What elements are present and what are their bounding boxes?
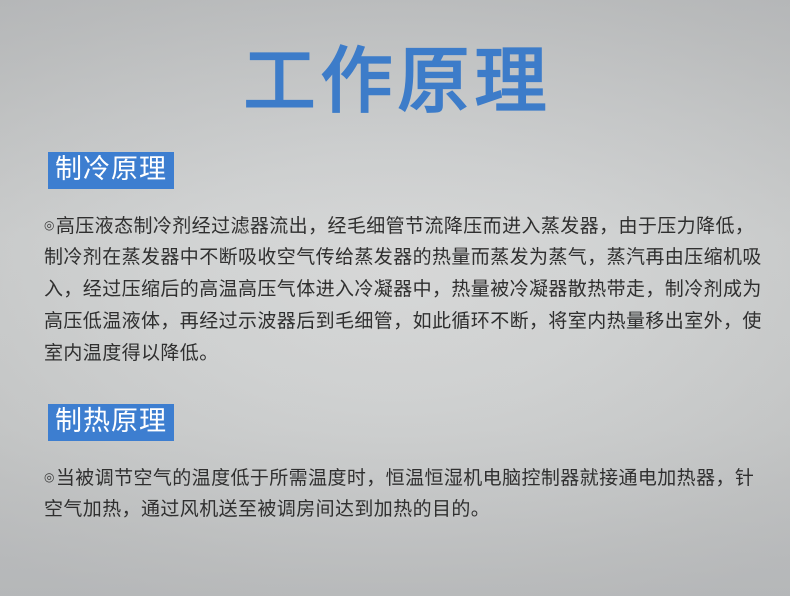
body-line-text: 高压液态制冷剂经过滤器流出，经毛细管节流降压而进入蒸发器，由于压力降低， [56,215,754,237]
page-background: 工作原理 制冷原理 ◎高压液态制冷剂经过滤器流出，经毛细管节流降压而进入蒸发器，… [0,0,790,596]
body-line: 入，经过压缩后的高温高压气体进入冷凝器中，热量被冷凝器散热带走，制冷剂成为 [44,273,760,305]
body-line-text: 当被调节空气的温度低于所需温度时，恒温恒湿机电脑控制器就接通电加热器，针 [56,467,754,489]
body-line: ◎高压液态制冷剂经过滤器流出，经毛细管节流降压而进入蒸发器，由于压力降低， [44,209,760,241]
section-cooling-body: ◎高压液态制冷剂经过滤器流出，经毛细管节流降压而进入蒸发器，由于压力降低， 制冷… [44,209,760,369]
bullet-icon: ◎ [44,470,56,484]
section-badge-heating: 制热原理 [48,404,174,441]
section-heating-header: 制热原理 [0,404,790,441]
section-badge-cooling: 制冷原理 [48,152,174,189]
body-line: ◎当被调节空气的温度低于所需温度时，恒温恒湿机电脑控制器就接通电加热器，针 [44,461,760,493]
page-title-container: 工作原理 [0,43,790,119]
page-title: 工作原理 [238,43,551,119]
body-line: 空气加热，通过风机送至被调房间达到加热的目的。 [44,493,760,525]
section-cooling-header: 制冷原理 [0,152,790,189]
body-line: 高压低温液体，再经过示波器后到毛细管，如此循环不断，将室内热量移出室外，使 [44,305,760,337]
body-line: 制冷剂在蒸发器中不断吸收空气传给蒸发器的热量而蒸发为蒸气，蒸汽再由压缩机吸 [44,241,760,273]
body-line: 室内温度得以降低。 [44,337,760,369]
bullet-icon: ◎ [44,218,56,232]
section-heating-body: ◎当被调节空气的温度低于所需温度时，恒温恒湿机电脑控制器就接通电加热器，针 空气… [44,461,760,525]
